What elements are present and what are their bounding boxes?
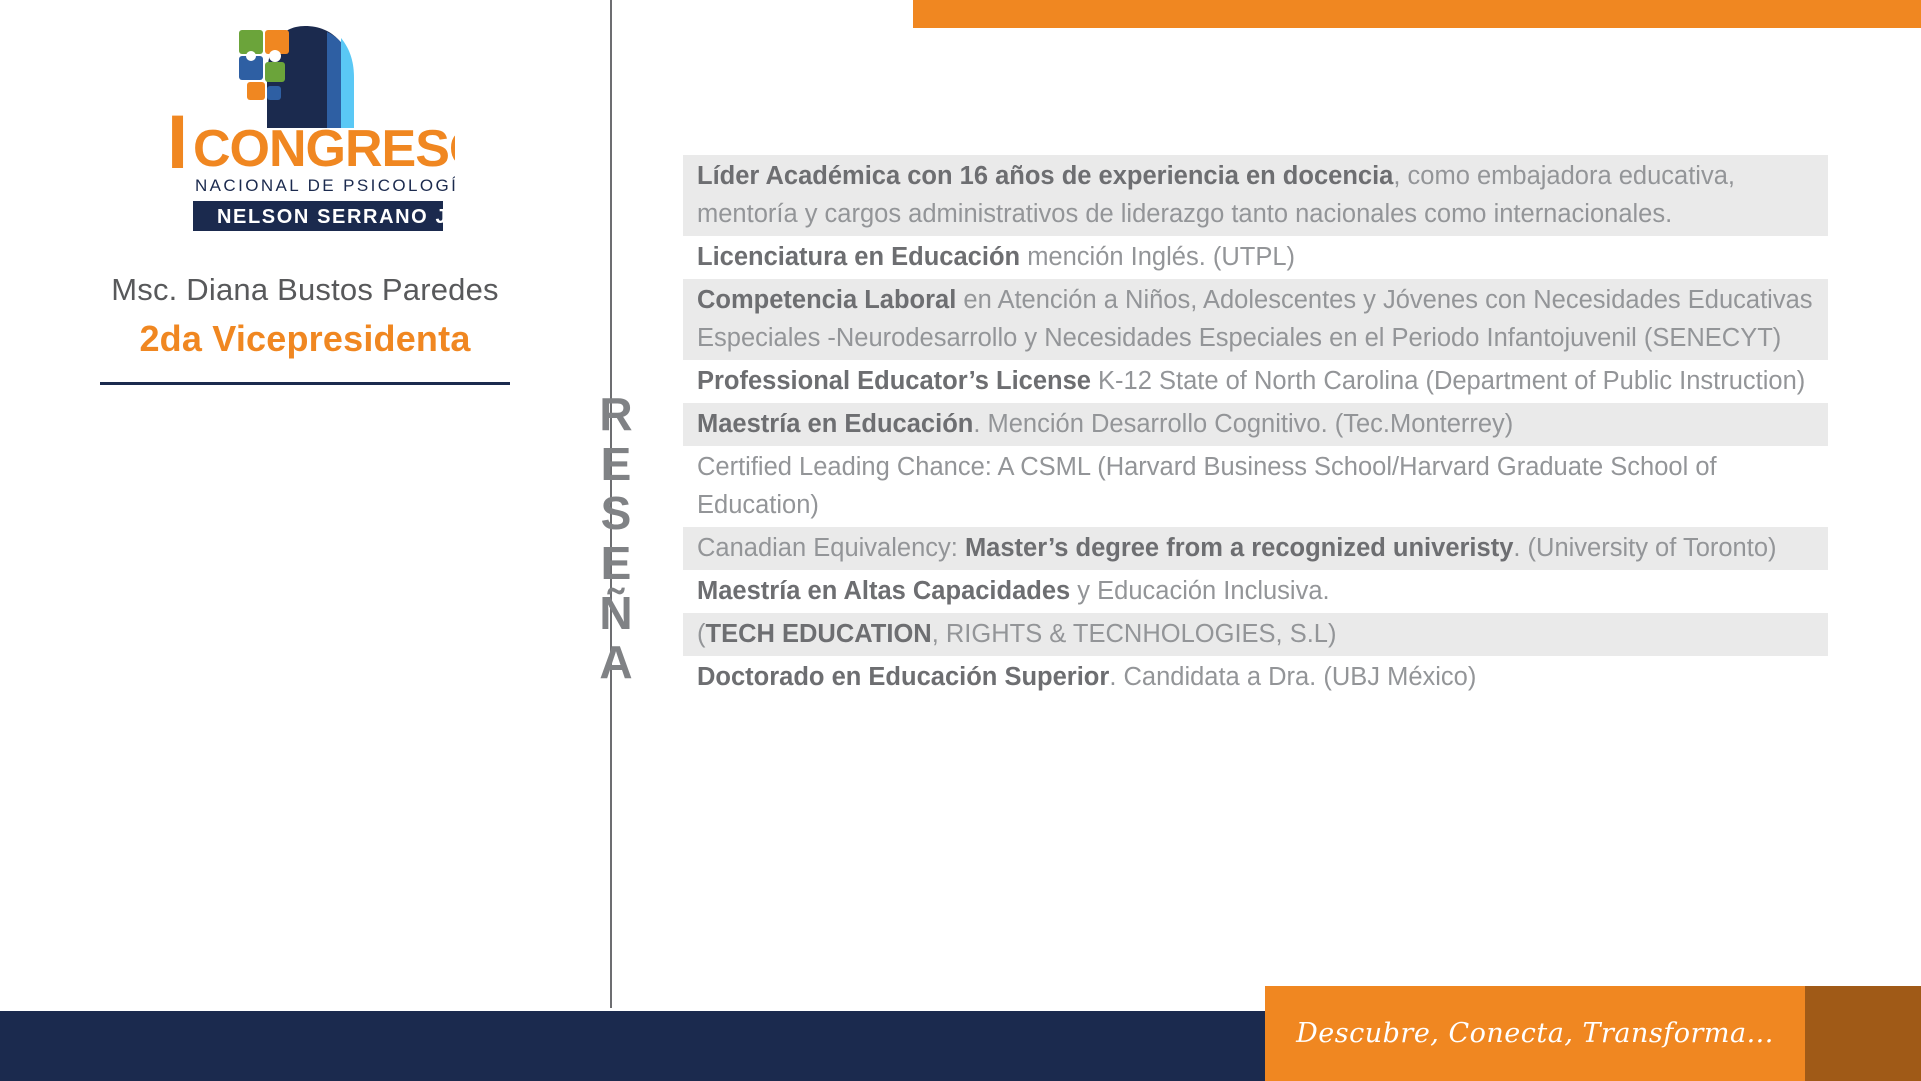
entry-detail: mención Inglés. (UTPL) <box>1020 243 1295 271</box>
svg-text:NACIONAL DE PSICOLOGÍA: NACIONAL DE PSICOLOGÍA <box>195 176 455 195</box>
entry-title: Professional Educator’s License <box>697 367 1091 395</box>
entry-detail: ( <box>697 620 706 648</box>
entry-title: Maestría en Altas Capacidades <box>697 577 1070 605</box>
entry-detail: Canadian Equivalency: <box>697 534 965 562</box>
entry-title: Líder Académica con 16 años de experienc… <box>697 162 1393 190</box>
entry-title: Licenciatura en Educación <box>697 243 1020 271</box>
section-label-char: S <box>588 489 644 539</box>
resume-entry: Doctorado en Educación Superior. Candida… <box>683 656 1828 699</box>
entry-title: TECH EDUCATION <box>706 620 932 648</box>
speaker-underline <box>100 382 510 385</box>
resume-entry: Líder Académica con 16 años de experienc… <box>683 155 1828 236</box>
entry-detail: . Mención Desarrollo Cognitivo. (Tec.Mon… <box>973 410 1513 438</box>
entry-title: Competencia Laboral <box>697 286 956 314</box>
entry-detail: , RIGHTS & TECNHOLOGIES, S.L) <box>932 620 1337 648</box>
footer-accent-dark <box>1805 986 1921 1081</box>
speaker-role: 2da Vicepresidenta <box>0 318 610 360</box>
footer-tagline-block: Descubre, Conecta, Transforma... <box>1265 986 1805 1081</box>
resume-entry: Maestría en Altas Capacidades y Educació… <box>683 570 1828 613</box>
svg-text:I: I <box>167 100 188 185</box>
resume-entry-list: Líder Académica con 16 años de experienc… <box>683 155 1828 699</box>
resume-entry: (TECH EDUCATION, RIGHTS & TECNHOLOGIES, … <box>683 613 1828 656</box>
section-label-char: R <box>588 390 644 440</box>
svg-text:NELSON SERRANO JARA: NELSON SERRANO JARA <box>217 206 455 228</box>
entry-title: Maestría en Educación <box>697 410 973 438</box>
resume-entry: Professional Educator’s License K-12 Sta… <box>683 360 1828 403</box>
resume-entry: Competencia Laboral en Atención a Niños,… <box>683 279 1828 360</box>
resume-entry: Maestría en Educación. Mención Desarroll… <box>683 403 1828 446</box>
section-label-char: Ñ <box>588 589 644 639</box>
section-label-char: A <box>588 638 644 688</box>
entry-detail: Certified Leading Chance: A CSML (Harvar… <box>697 453 1717 519</box>
entry-detail: . Candidata a Dra. (UBJ México) <box>1109 663 1476 691</box>
congress-logo: I CONGRESO NACIONAL DE PSICOLOGÍA NELSON… <box>155 16 455 236</box>
entry-detail: y Educación Inclusiva. <box>1070 577 1329 605</box>
entry-detail: K-12 State of North Carolina (Department… <box>1091 367 1805 395</box>
section-label-char: E <box>588 539 644 589</box>
speaker-panel: I CONGRESO NACIONAL DE PSICOLOGÍA NELSON… <box>0 0 610 1081</box>
svg-text:CONGRESO: CONGRESO <box>193 120 455 178</box>
entry-detail: . (University of Toronto) <box>1513 534 1776 562</box>
resume-entry: Certified Leading Chance: A CSML (Harvar… <box>683 446 1828 527</box>
top-accent-bar <box>913 0 1921 28</box>
section-label-char: E <box>588 440 644 490</box>
entry-title: Doctorado en Educación Superior <box>697 663 1109 691</box>
footer-tagline: Descubre, Conecta, Transforma... <box>1296 1018 1774 1049</box>
section-label-resena: R E S E Ñ A <box>588 390 644 688</box>
resume-entry: Canadian Equivalency: Master’s degree fr… <box>683 527 1828 570</box>
entry-title: Master’s degree from a recognized univer… <box>965 534 1513 562</box>
speaker-name: Msc. Diana Bustos Paredes <box>0 272 610 308</box>
resume-entry: Licenciatura en Educación mención Inglés… <box>683 236 1828 279</box>
